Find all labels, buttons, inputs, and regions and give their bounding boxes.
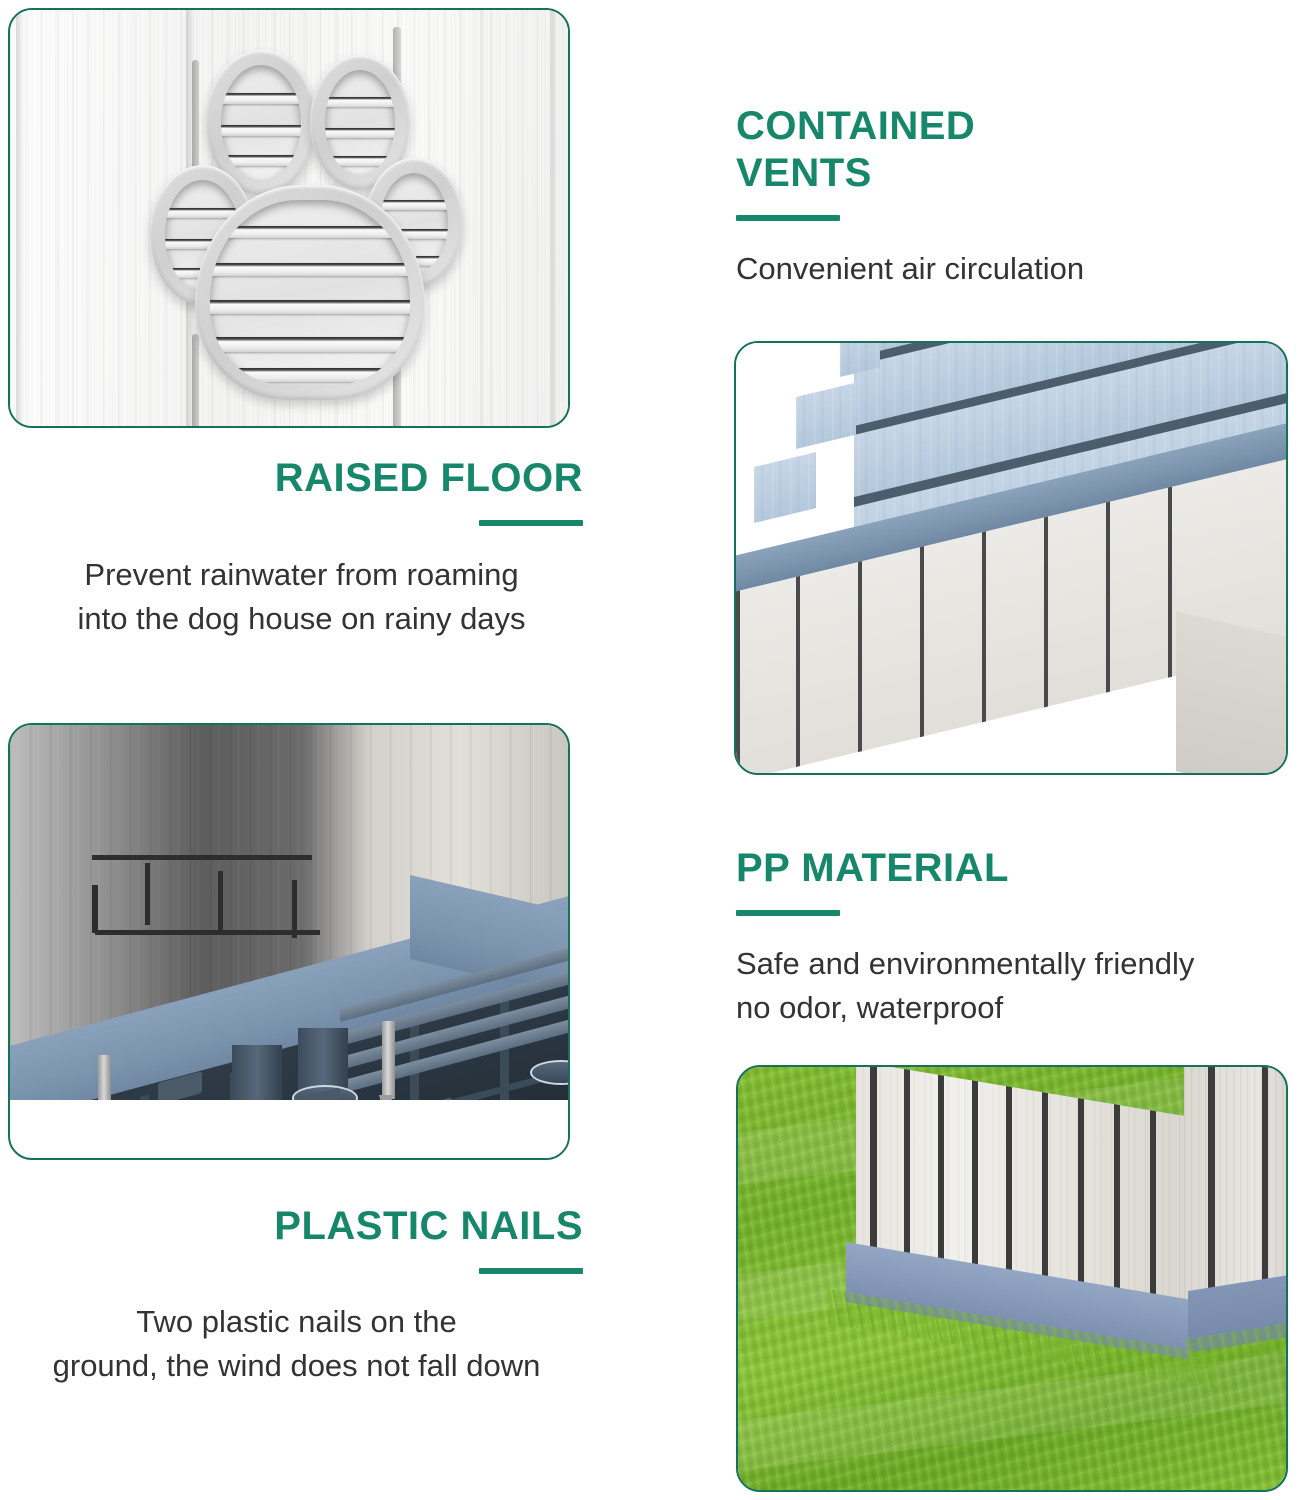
heading-pp-material: PP MATERIAL [736,845,1281,892]
feature-text-pp-material: PP MATERIAL Safe and environmentally fri… [736,845,1281,1030]
feature-text-plastic-nails: PLASTIC NAILS [40,1203,583,1274]
feature-image-pp-material [736,1065,1288,1492]
body-contained-vents: Convenient air circulation [736,247,1276,291]
paw-vent-graphic [10,10,568,426]
infographic-page: RAISED FLOOR Prevent rainwater from roam… [0,0,1304,1500]
feature-body-plastic-nails: Two plastic nails on the ground, the win… [10,1300,583,1388]
plastic-nail-2 [382,1021,395,1099]
heading-raised-floor: RAISED FLOOR [40,455,583,502]
heading-rule-raised-floor [479,520,583,526]
heading-rule-pp-material [736,910,840,916]
heading-rule-contained-vents [736,215,840,221]
body-plastic-nails: Two plastic nails on the ground, the win… [10,1300,583,1388]
heading-rule-plastic-nails [479,1268,583,1274]
heading-plastic-nails: PLASTIC NAILS [40,1203,583,1250]
body-pp-material: Safe and environmentally friendly no odo… [736,942,1281,1030]
feature-image-plastic-nails [8,723,570,1160]
feature-text-raised-floor: RAISED FLOOR [40,455,583,526]
feature-image-raised-floor [8,8,570,428]
feature-body-raised-floor: Prevent rainwater from roaming into the … [20,553,583,641]
heading-contained-vents: CONTAINED VENTS [736,103,1276,197]
feature-image-contained-vents [734,341,1288,775]
vent-main-pad [195,185,425,400]
feature-text-contained-vents: CONTAINED VENTS Convenient air circulati… [736,103,1276,291]
body-raised-floor: Prevent rainwater from roaming into the … [20,553,583,641]
